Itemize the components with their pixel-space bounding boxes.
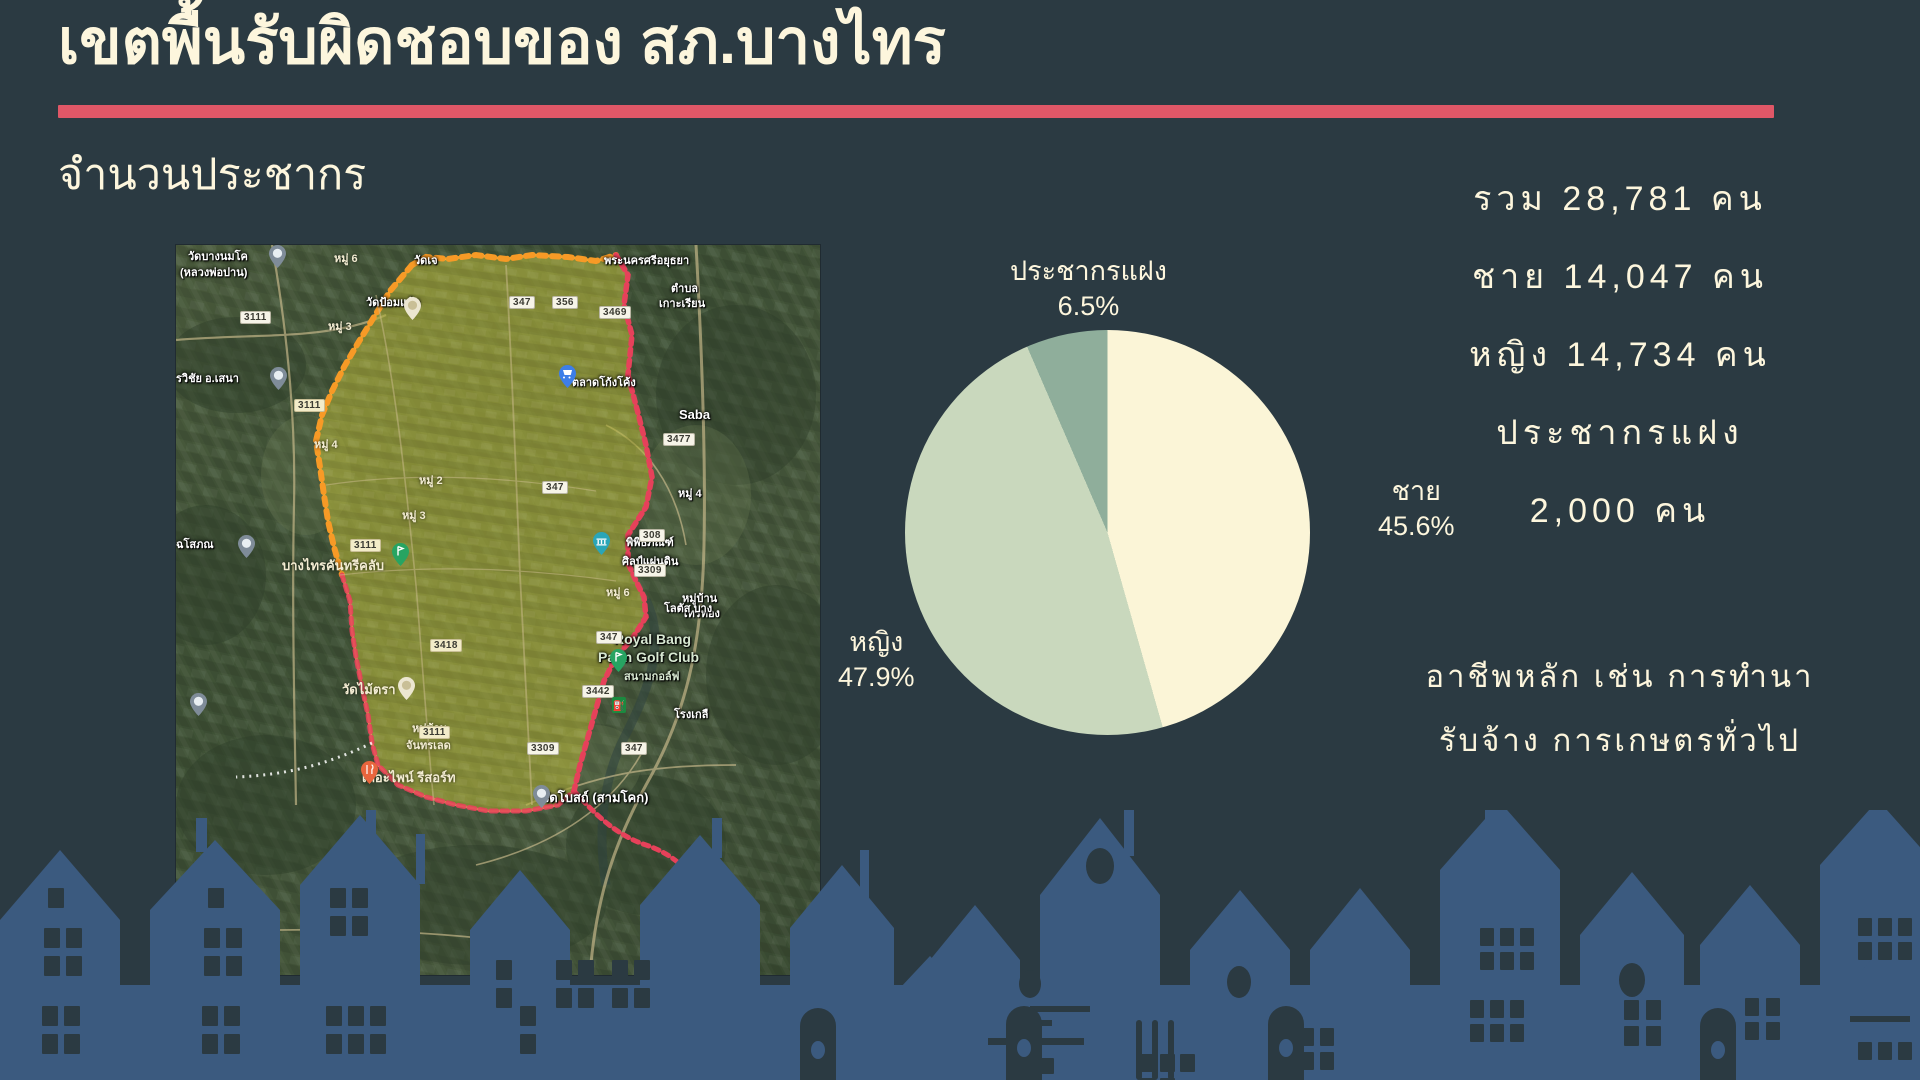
population-stats: รวม 28,781 คน ชาย 14,047 คน หญิง 14,734 … [1340, 160, 1900, 550]
pie-label-percent: 47.9% [838, 660, 915, 695]
temple-pin-icon [238, 535, 255, 558]
title-divider [58, 105, 1774, 118]
stat-shadow-label: ประชากรแฝง [1340, 394, 1900, 472]
house-skyline-decoration [0, 810, 1920, 1080]
road-shield: 3111 [294, 399, 325, 412]
golf-pin-icon[interactable] [610, 649, 627, 672]
road-shield: 347 [542, 481, 568, 494]
shopping-pin-icon[interactable] [559, 365, 576, 388]
temple-pin-icon [190, 693, 207, 716]
page-title: เขตพื้นรับผิดชอบของ สภ.บางไทร [58, 4, 946, 82]
svg-text:⛽: ⛽ [613, 699, 625, 712]
gas-station-icon[interactable]: ⛽ [612, 697, 629, 720]
golf-pin-icon[interactable] [392, 543, 409, 566]
temple-pin-icon [269, 245, 286, 268]
pie-label-name: หญิง [838, 625, 915, 660]
stat-female: หญิง 14,734 คน [1340, 316, 1900, 394]
road-shield: 3111 [419, 726, 450, 739]
road-shield: 3477 [663, 433, 695, 446]
road-shield: 3418 [430, 639, 462, 652]
road-shield: 347 [596, 631, 622, 644]
temple-pin-icon [270, 367, 287, 390]
pie-label-name: ประชากรแฝง [1010, 254, 1167, 289]
slide-root: เขตพื้นรับผิดชอบของ สภ.บางไทร จำนวนประชา… [0, 0, 1920, 1080]
road-shield: 308 [639, 529, 665, 542]
road-shield: 3309 [634, 564, 666, 577]
temple-pin-icon [533, 785, 550, 808]
pie-label-shadow-population: ประชากรแฝง 6.5% [1010, 254, 1167, 324]
road-shield: 3469 [599, 306, 631, 319]
stat-male: ชาย 14,047 คน [1340, 238, 1900, 316]
restaurant-pin-icon[interactable] [361, 761, 378, 784]
road-shield: 3111 [240, 311, 271, 324]
pie-slices [905, 330, 1310, 735]
road-shield: 356 [552, 296, 578, 309]
road-shield: 347 [621, 742, 647, 755]
road-shield: 347 [509, 296, 535, 309]
road-shield: 3309 [527, 742, 559, 755]
occupation-note: อาชีพหลัก เช่น การทำนา รับจ้าง การเกษตรท… [1330, 645, 1910, 773]
skyline-svg [0, 810, 1920, 1080]
temple-pin-icon [398, 677, 415, 700]
stat-shadow-value: 2,000 คน [1340, 472, 1900, 550]
section-subtitle: จำนวนประชากร [58, 140, 366, 208]
occupation-line-1: อาชีพหลัก เช่น การทำนา [1330, 645, 1910, 709]
temple-pin-icon [404, 297, 421, 320]
road-shield: 3442 [582, 685, 614, 698]
occupation-line-2: รับจ้าง การเกษตรทั่วไป [1330, 709, 1910, 773]
museum-pin-icon[interactable] [593, 532, 610, 555]
road-shield: 3111 [350, 539, 381, 552]
pie-label-female: หญิง 47.9% [838, 625, 915, 695]
stat-total: รวม 28,781 คน [1340, 160, 1900, 238]
population-pie-chart[interactable] [905, 330, 1310, 735]
pie-label-percent: 6.5% [1010, 289, 1167, 324]
